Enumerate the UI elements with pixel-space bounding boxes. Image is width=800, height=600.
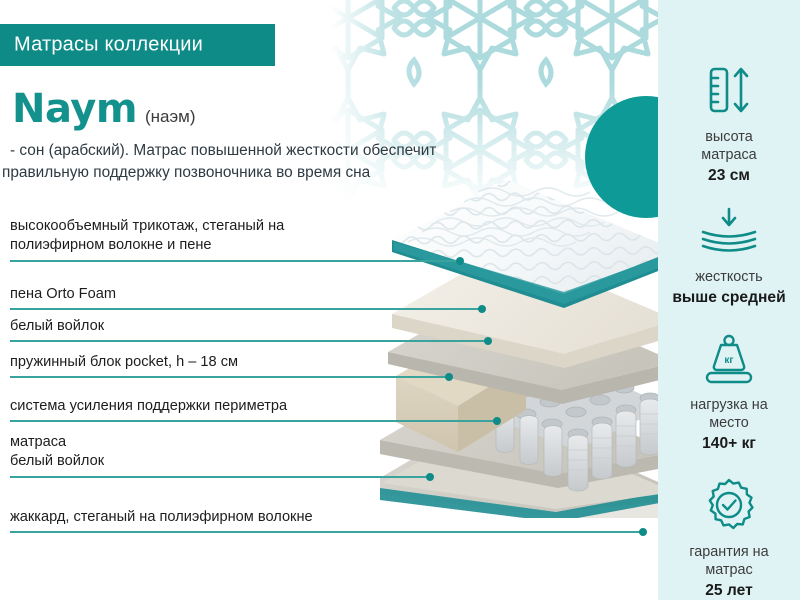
callout-felt-top-label: белый войлок xyxy=(10,317,104,336)
weight-icon-text: кг xyxy=(724,355,733,366)
feature-firmness-value: выше средней xyxy=(658,289,800,307)
ruler-arrow-icon xyxy=(658,58,800,122)
callout-pocket-label: пружинный блок pocket, h – 18 см xyxy=(10,353,238,372)
feature-height-label: высотаматраса xyxy=(658,128,800,164)
callout-knit: высокообъемный трикотаж, стеганый наполи… xyxy=(0,206,470,262)
feature-guarantee-label: гарантия наматрас xyxy=(658,543,800,579)
description-line-1: - сон (арабский). Матрас повышенной жест… xyxy=(10,142,436,159)
callout-felt-top: белый войлок xyxy=(0,308,490,342)
weight-kg-icon: кг xyxy=(658,326,800,390)
brand-translit: (наэм) xyxy=(145,107,196,126)
collection-header-bar: Матрасы коллекции xyxy=(0,24,275,66)
brand-title: Naym(наэм) xyxy=(12,86,196,132)
feature-firmness: жесткость выше средней xyxy=(658,198,800,307)
feature-load-label: нагрузка наместо xyxy=(658,396,800,432)
callout-orto-label: пена Orto Foam xyxy=(10,285,116,304)
feature-load-value: 140+ кг xyxy=(658,435,800,453)
mattress-product-banner: Матрасы коллекции Naym(наэм) - сон (араб… xyxy=(0,0,800,600)
features-sidebar: высотаматраса 23 см жесткость выше сред xyxy=(658,0,800,600)
callout-felt-bottom-label: матрасабелый войлок xyxy=(10,433,104,472)
collection-label: Матрасы коллекции xyxy=(14,34,203,57)
callout-jacquard-label: жаккард, стеганый на полиэфирном волокне xyxy=(10,508,313,527)
feature-guarantee: гарантия наматрас 25 лет xyxy=(658,473,800,600)
feature-load: кг нагрузка наместо 140+ кг xyxy=(658,326,800,453)
firmness-waves-icon xyxy=(658,198,800,262)
feature-height-value: 23 см xyxy=(658,167,800,185)
feature-height: высотаматраса 23 см xyxy=(658,58,800,185)
brand-name: Naym xyxy=(12,86,137,132)
callout-felt-bottom: матрасабелый войлок xyxy=(0,422,440,478)
guarantee-badge-icon xyxy=(658,473,800,537)
callout-perimeter-label: система усиления поддержки периметра xyxy=(10,397,287,416)
callout-knit-label: высокообъемный трикотаж, стеганый наполи… xyxy=(10,217,284,256)
feature-firmness-label: жесткость xyxy=(658,268,800,286)
callout-jacquard: жаккард, стеганый на полиэфирном волокне xyxy=(0,495,660,533)
callout-pocket: пружинный блок pocket, h – 18 см xyxy=(0,344,460,378)
feature-guarantee-value: 25 лет xyxy=(658,582,800,600)
callout-perimeter: система усиления поддержки периметра xyxy=(0,388,500,422)
callout-orto: пена Orto Foam xyxy=(0,276,485,310)
